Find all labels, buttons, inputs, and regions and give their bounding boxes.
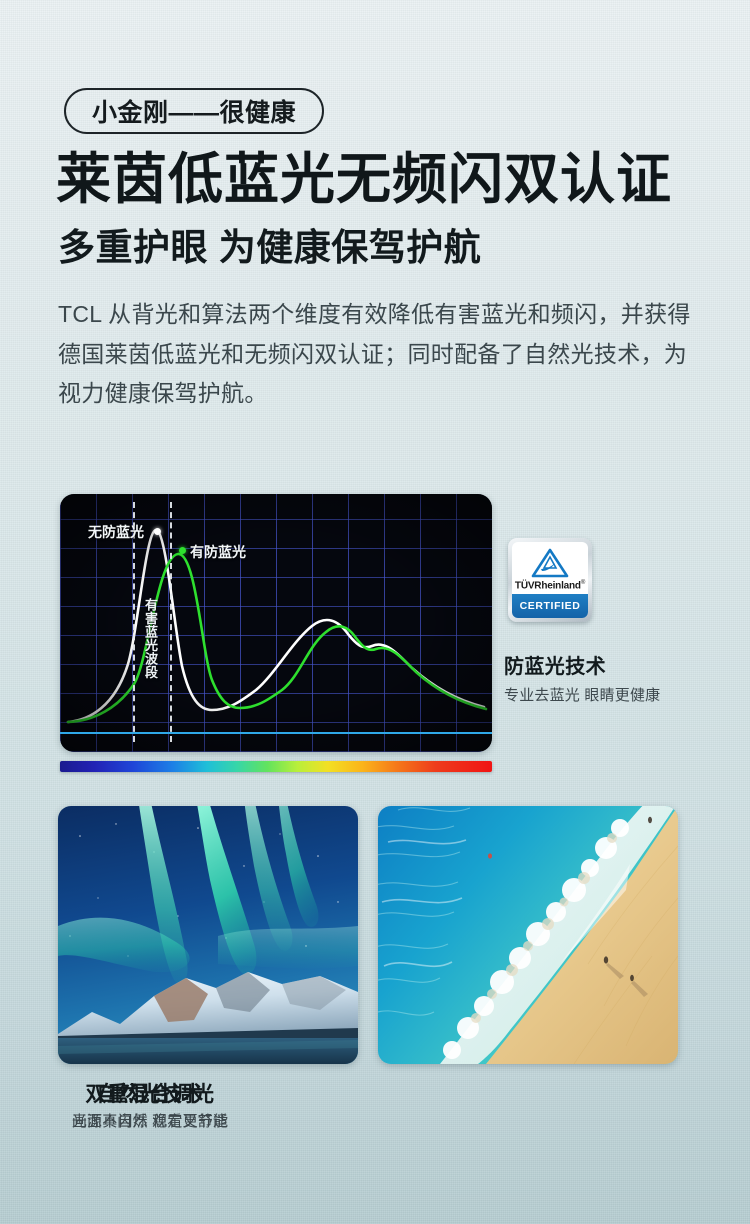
tuv-rheinland-certified-badge: TÜVRheinland® CERTIFIED: [508, 538, 592, 622]
aurora-over-snowy-mountains-photo: [58, 806, 358, 1064]
harmful-band-label: 有害蓝光波段: [138, 598, 158, 679]
blue-light-spectrum-chart: 无防蓝光 有防蓝光 有害蓝光波段: [60, 494, 492, 752]
registered-mark: ®: [581, 580, 585, 586]
promo-page: 小金刚——很健康 莱茵低蓝光无频闪双认证 多重护眼 为健康保驾护航 TCL 从背…: [0, 0, 750, 1224]
chart-baseline: [60, 732, 492, 734]
peak-marker-no-filter: [154, 528, 161, 535]
peak-marker-with-filter: [179, 547, 186, 554]
page-subtitle: 多重护眼 为健康保驾护航: [58, 228, 481, 269]
blue-light-feature-title: 防蓝光技术: [504, 650, 606, 679]
aerial-beach-shoreline-photo: [378, 806, 678, 1064]
blue-light-feature-subtitle: 专业去蓝光 眼睛更健康: [504, 684, 660, 705]
curve-label-with-filter: 有防蓝光: [190, 542, 246, 562]
tuv-wordmark: TÜVRheinland®: [515, 580, 585, 591]
body-paragraph: TCL 从背光和算法两个维度有效降低有害蓝光和频闪，并获得德国莱茵低蓝光和无频闪…: [58, 295, 708, 414]
tagline-pill-label: 小金刚——很健康: [92, 93, 296, 129]
tagline-pill-badge: 小金刚——很健康: [64, 88, 324, 134]
feature-title-natural-light: 自然光技术: [0, 1078, 300, 1108]
harmful-band-right-marker: [170, 502, 172, 742]
visible-spectrum-bar: [60, 761, 492, 772]
page-title: 莱茵低蓝光无频闪双认证: [56, 150, 672, 208]
tuv-wordmark-text: TÜVRheinland: [515, 580, 581, 591]
curve-label-no-filter: 无防蓝光: [88, 522, 144, 542]
tuv-badge-inner: TÜVRheinland® CERTIFIED: [512, 542, 588, 618]
aurora-photo-card: [58, 806, 358, 1064]
tuv-triangle-icon: [530, 548, 570, 578]
tuv-certified-bar: CERTIFIED: [512, 594, 588, 618]
feature-subtitle-natural-light: 光源真自然 观看更舒适: [0, 1110, 300, 1131]
beach-photo-card: [378, 806, 678, 1064]
